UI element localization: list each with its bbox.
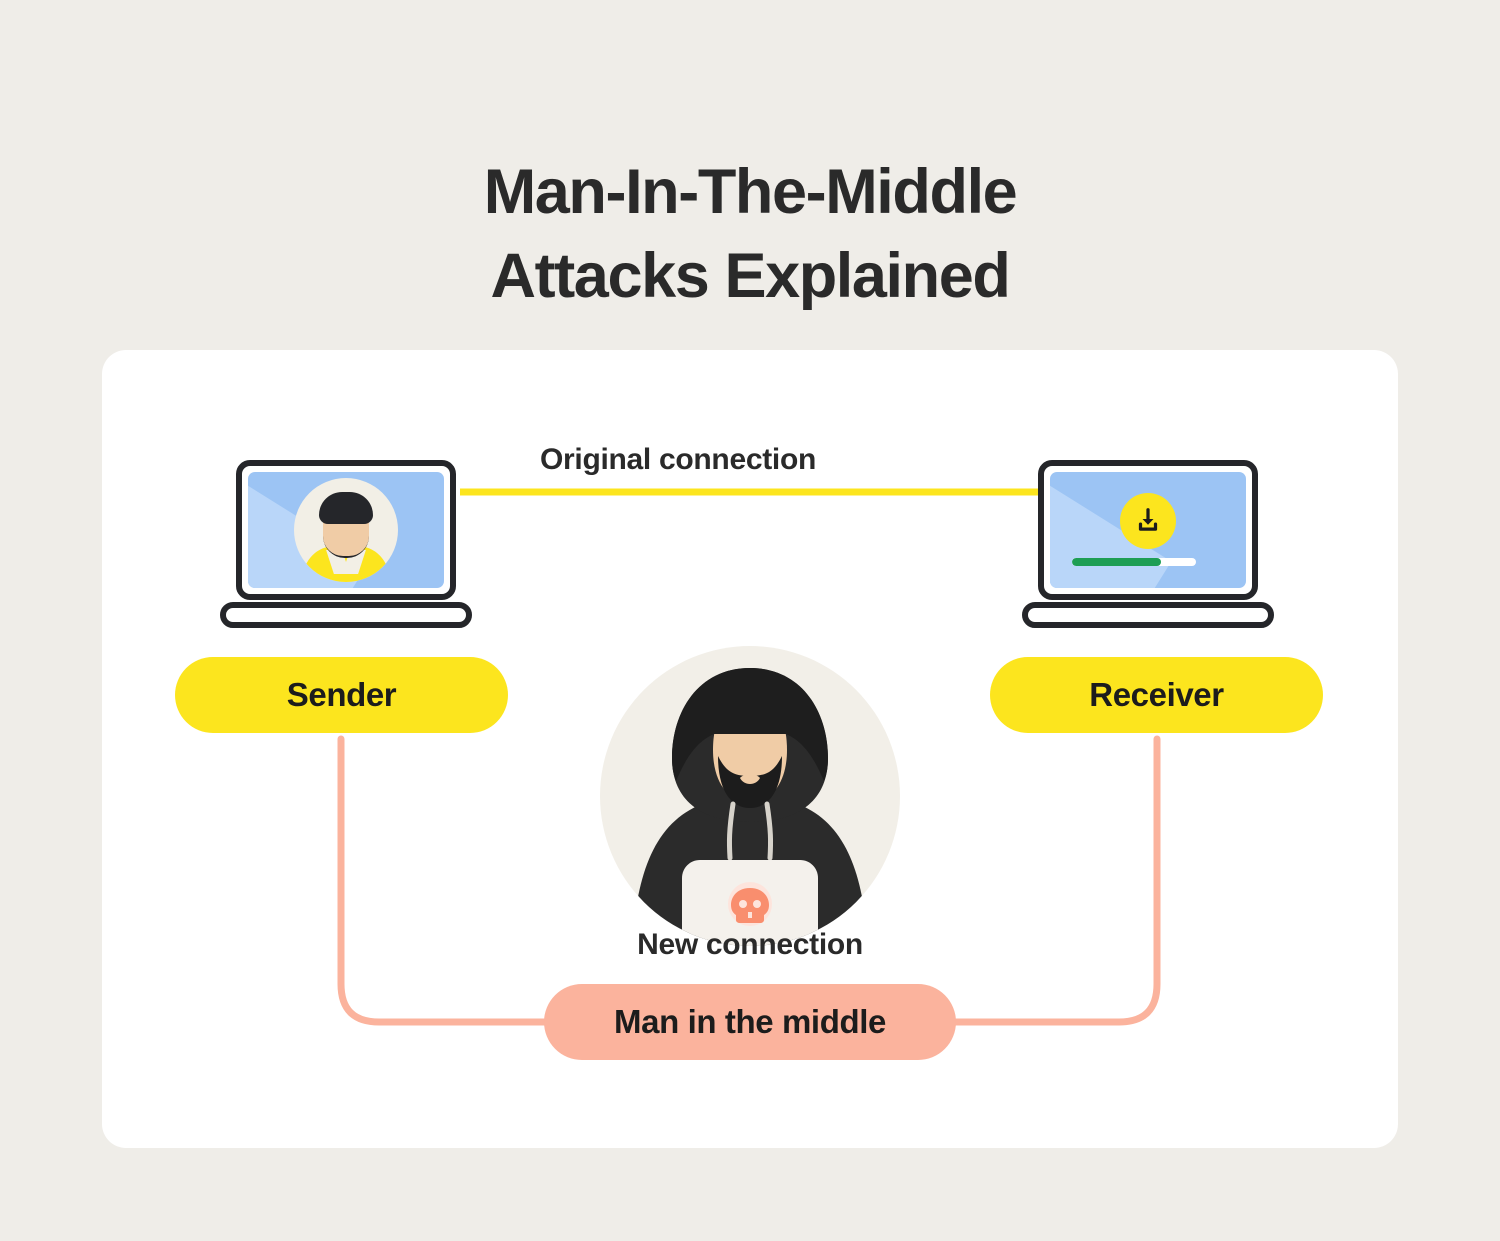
hooded-hacker-icon bbox=[600, 646, 900, 946]
receiver-pill-label: Receiver bbox=[1089, 676, 1223, 714]
page-title-line-2: Attacks Explained bbox=[0, 234, 1500, 318]
download-progress-bar bbox=[1072, 558, 1196, 566]
new-connection-label: New connection bbox=[522, 928, 978, 962]
sender-laptop-screen bbox=[248, 472, 444, 588]
sender-laptop-base bbox=[220, 602, 472, 628]
diagram-card: Original connection bbox=[102, 350, 1398, 1148]
infographic-page: Man-In-The-Middle Attacks Explained Orig… bbox=[0, 0, 1500, 1241]
receiver-laptop bbox=[1022, 460, 1274, 628]
sender-pill-label: Sender bbox=[287, 676, 396, 714]
receiver-laptop-lid bbox=[1038, 460, 1258, 600]
receiver-pill[interactable]: Receiver bbox=[990, 657, 1323, 733]
sender-pill[interactable]: Sender bbox=[175, 657, 508, 733]
original-connection-label: Original connection bbox=[450, 443, 906, 477]
page-title: Man-In-The-Middle Attacks Explained bbox=[0, 150, 1500, 318]
receiver-laptop-screen bbox=[1050, 472, 1246, 588]
receiver-laptop-base bbox=[1022, 602, 1274, 628]
download-icon bbox=[1120, 493, 1176, 549]
hacker-illustration bbox=[600, 646, 900, 946]
skull-icon bbox=[731, 888, 769, 923]
new-connection-left-line bbox=[341, 739, 554, 1022]
man-in-the-middle-pill[interactable]: Man in the middle bbox=[544, 984, 956, 1060]
page-title-line-1: Man-In-The-Middle bbox=[0, 150, 1500, 234]
sender-laptop bbox=[220, 460, 472, 628]
user-avatar-icon bbox=[294, 478, 398, 582]
man-in-the-middle-pill-label: Man in the middle bbox=[614, 1003, 886, 1041]
sender-laptop-lid bbox=[236, 460, 456, 600]
new-connection-right-line bbox=[947, 739, 1157, 1022]
